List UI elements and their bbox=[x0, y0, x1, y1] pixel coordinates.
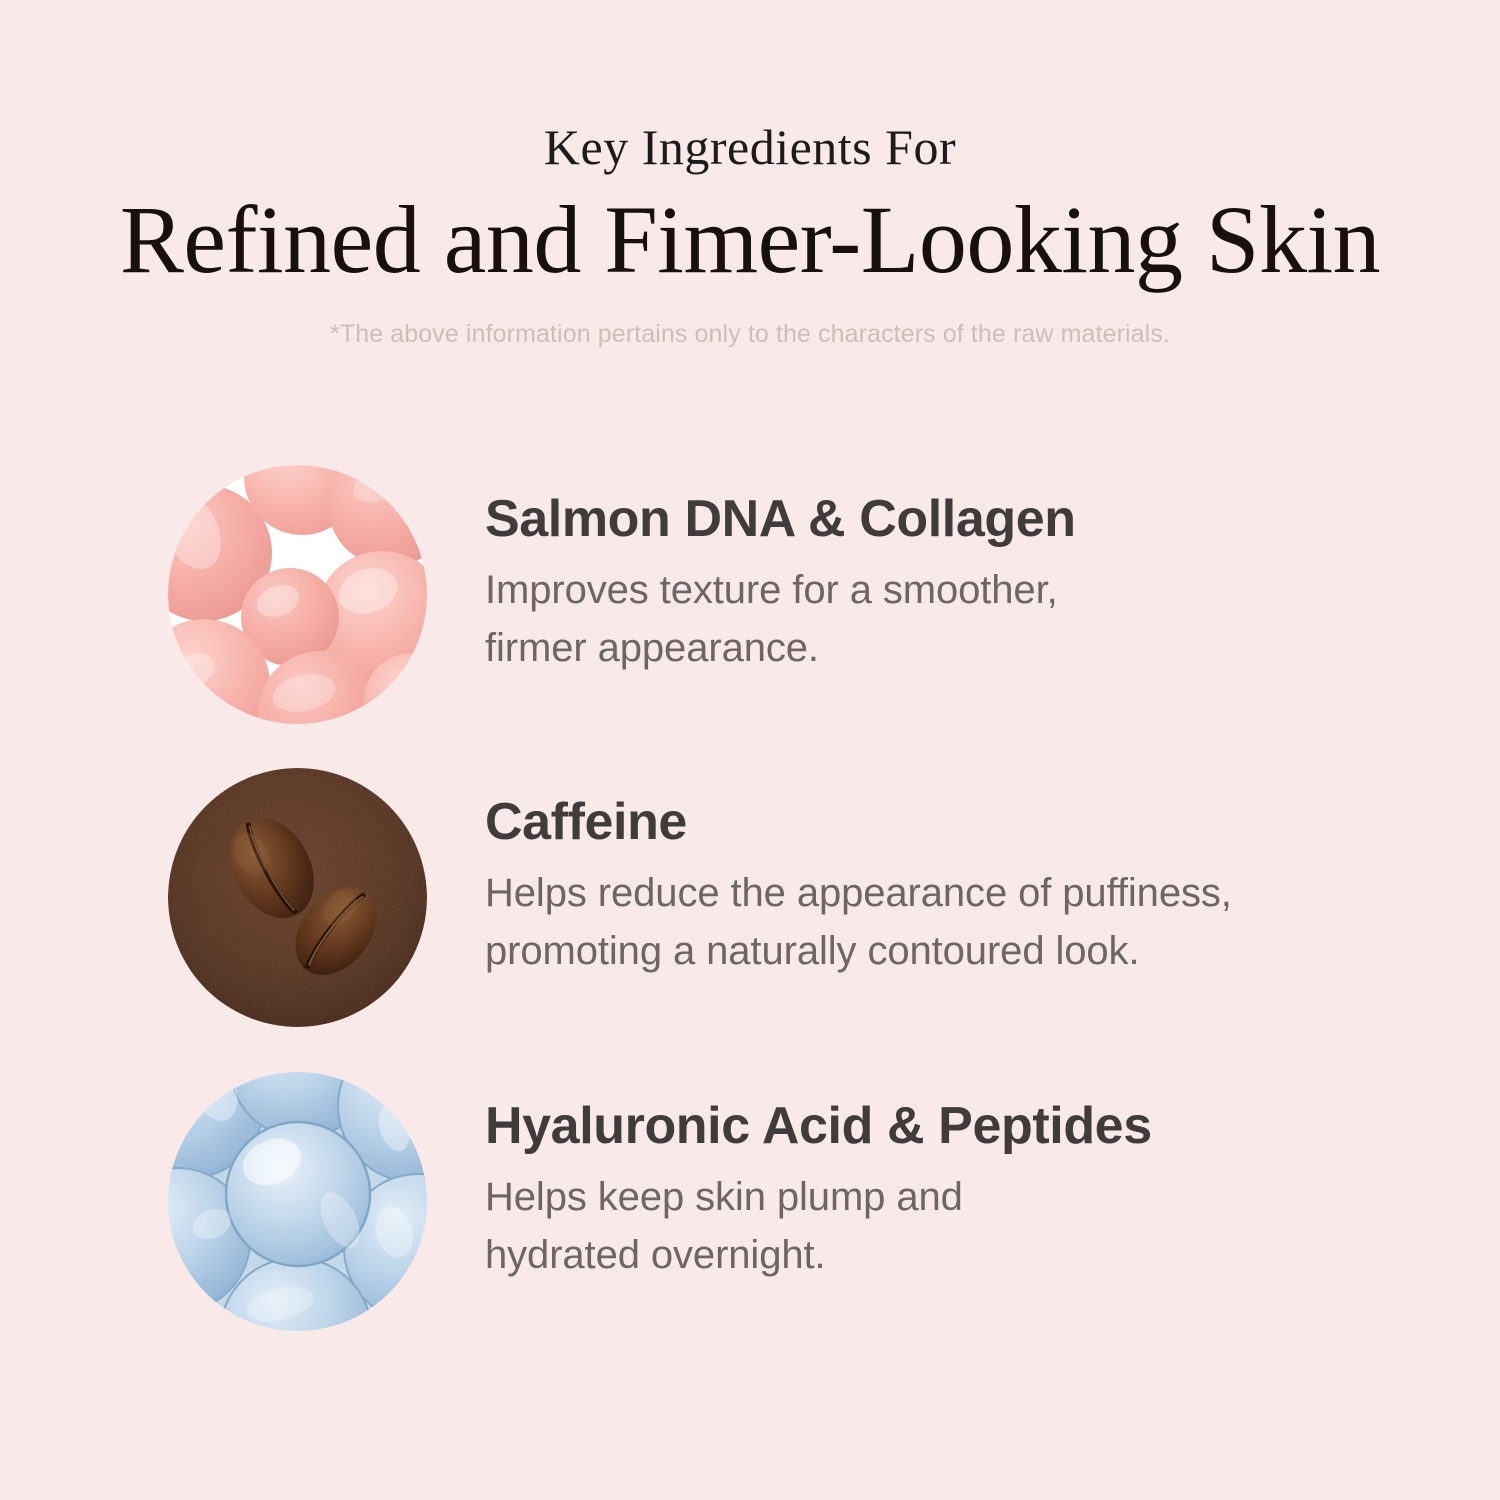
description-line: Helps reduce the appearance of puffiness… bbox=[485, 864, 1438, 922]
ingredient-copy: Hyaluronic Acid & Peptides Helps keep sk… bbox=[427, 1072, 1438, 1284]
description-line: promoting a naturally contoured look. bbox=[485, 922, 1438, 980]
ingredient-copy: Salmon DNA & Collagen Improves texture f… bbox=[427, 465, 1438, 677]
page-title: Refined and Fimer-Looking Skin bbox=[0, 188, 1500, 292]
blue-spheres-image bbox=[168, 1072, 427, 1331]
ingredient-copy: Caffeine Helps reduce the appearance of … bbox=[427, 768, 1438, 980]
ingredient-row: Caffeine Helps reduce the appearance of … bbox=[168, 768, 1438, 1027]
header: Key Ingredients For Refined and Fimer-Lo… bbox=[0, 118, 1500, 350]
ingredient-row: Hyaluronic Acid & Peptides Helps keep sk… bbox=[168, 1072, 1438, 1331]
ingredient-description: Helps keep skin plump and hydrated overn… bbox=[485, 1168, 1438, 1284]
ingredient-title: Salmon DNA & Collagen bbox=[485, 489, 1438, 549]
infographic-page: Key Ingredients For Refined and Fimer-Lo… bbox=[0, 0, 1500, 1500]
ingredient-description: Helps reduce the appearance of puffiness… bbox=[485, 864, 1438, 980]
coffee-grounds-beans-image bbox=[168, 768, 427, 1027]
description-line: Improves texture for a smoother, bbox=[485, 561, 1438, 619]
ingredient-title: Hyaluronic Acid & Peptides bbox=[485, 1096, 1438, 1156]
description-line: hydrated overnight. bbox=[485, 1226, 1438, 1284]
description-line: Helps keep skin plump and bbox=[485, 1168, 1438, 1226]
disclaimer-text: *The above information pertains only to … bbox=[0, 318, 1500, 350]
pink-capsules-image bbox=[168, 465, 427, 724]
ingredient-title: Caffeine bbox=[485, 792, 1438, 852]
ingredient-row: Salmon DNA & Collagen Improves texture f… bbox=[168, 465, 1438, 724]
ingredient-description: Improves texture for a smoother, firmer … bbox=[485, 561, 1438, 677]
eyebrow-text: Key Ingredients For bbox=[0, 118, 1500, 176]
description-line: firmer appearance. bbox=[485, 619, 1438, 677]
